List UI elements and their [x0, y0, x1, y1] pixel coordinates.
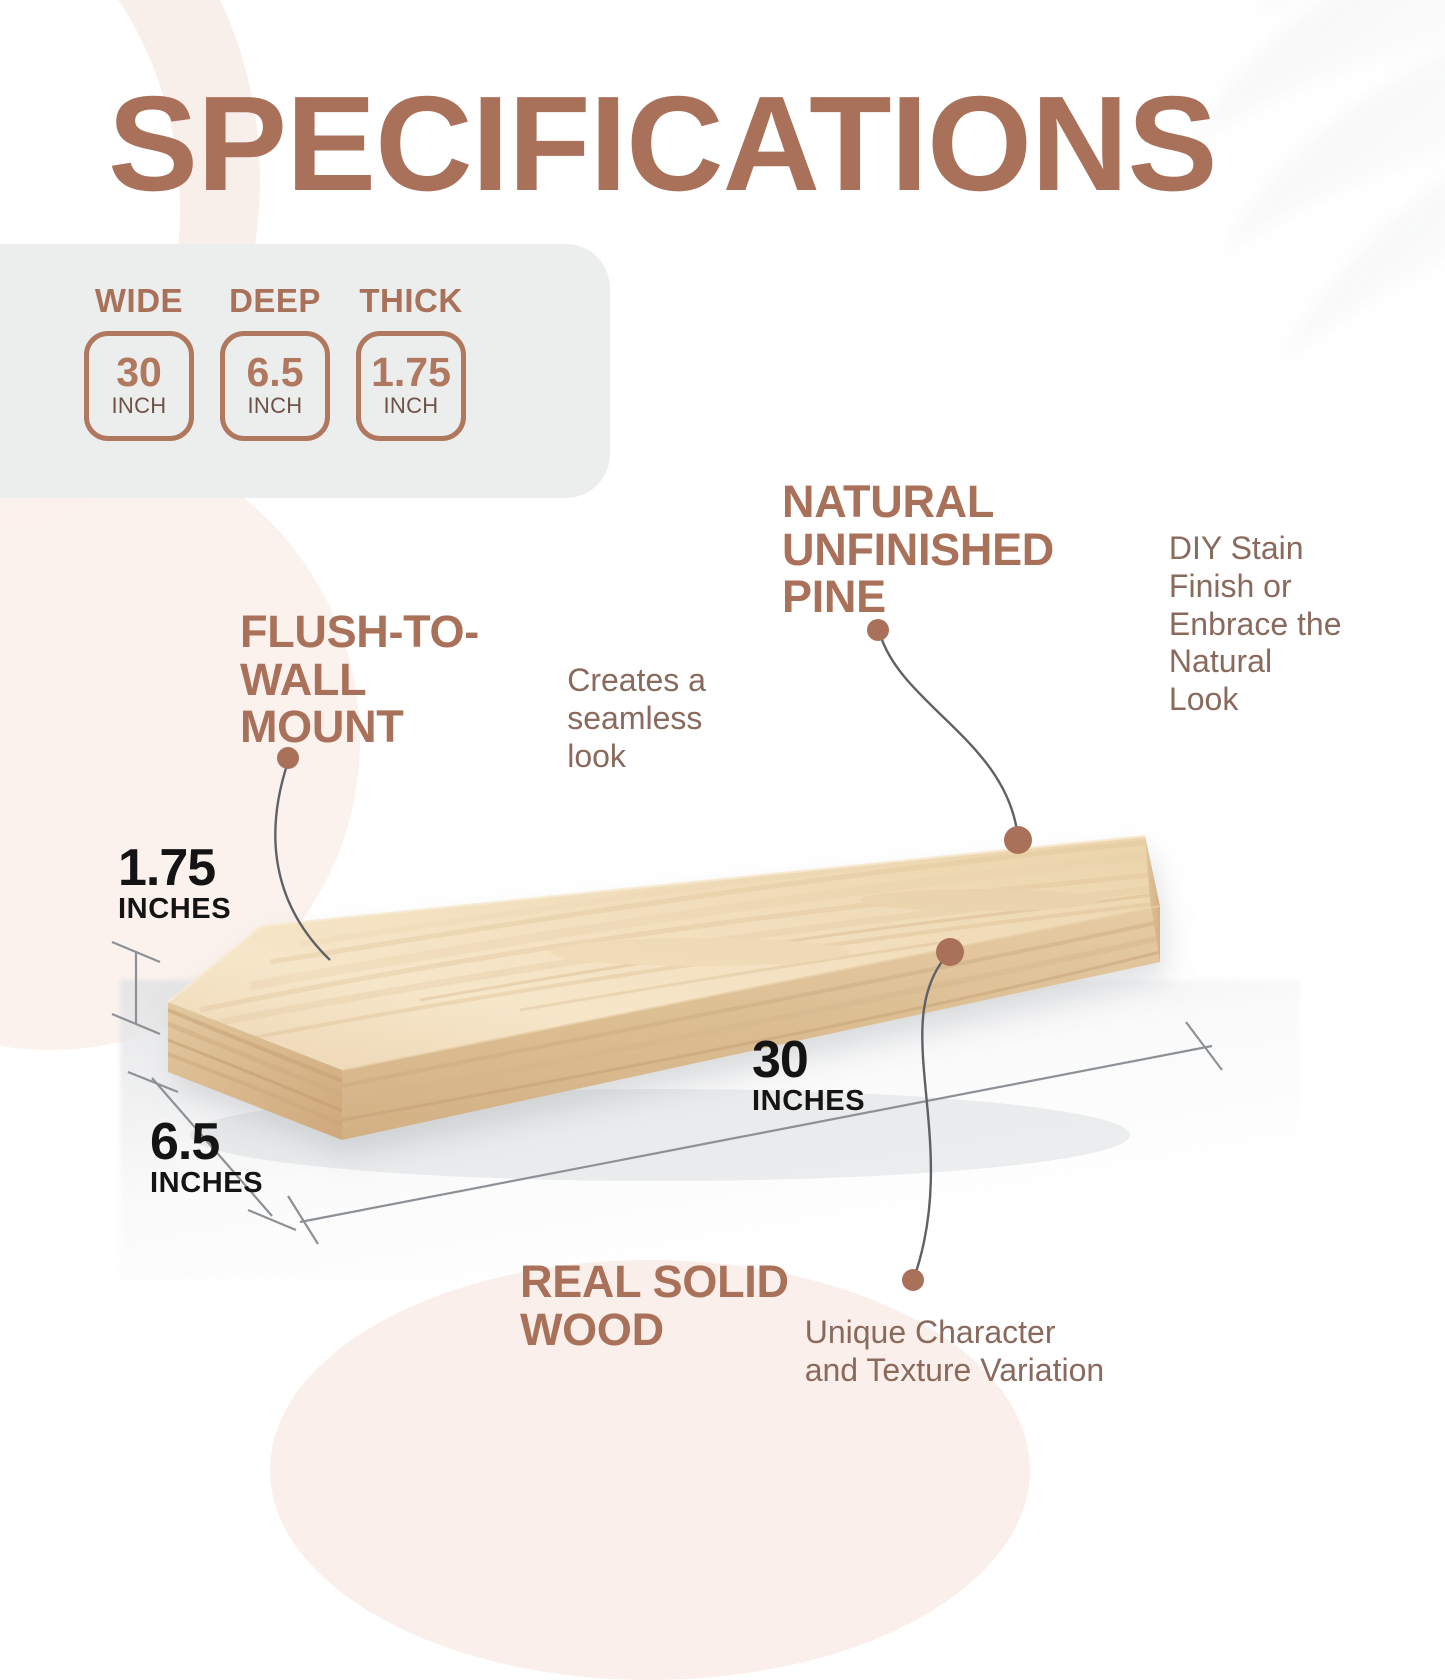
- callout-heading-wood: REAL SOLID WOOD: [520, 1258, 789, 1353]
- callout-heading-pine: NATURAL UNFINISHED PINE: [782, 478, 1153, 621]
- spec-label-deep: DEEP: [229, 282, 321, 320]
- leader-dot-pine-target: [1004, 826, 1032, 854]
- spec-label-wide: WIDE: [95, 282, 183, 320]
- dimension-value-depth: 6.5: [150, 1118, 263, 1167]
- dimension-label-thickness: 1.75 INCHES: [118, 844, 231, 926]
- dimension-unit-thickness: INCHES: [118, 893, 231, 926]
- dimension-unit-depth: INCHES: [150, 1167, 263, 1200]
- callout-heading-mount: FLUSH-TO-WALL MOUNT: [240, 608, 551, 751]
- spec-unit-deep: INCH: [248, 393, 303, 419]
- spec-unit-thick: INCH: [384, 393, 439, 419]
- spec-box-wide: 30 INCH: [84, 331, 194, 441]
- spec-item-deep: DEEP 6.5 INCH: [220, 282, 330, 441]
- spec-unit-wide: INCH: [112, 393, 167, 419]
- page-title: SPECIFICATIONS: [108, 76, 1217, 211]
- spec-value-wide: 30: [116, 353, 162, 392]
- spec-item-thick: THICK 1.75 INCH: [356, 282, 466, 441]
- spec-box-thick: 1.75 INCH: [356, 331, 466, 441]
- specification-panel: WIDE 30 INCH DEEP 6.5 INCH THICK 1.75 IN…: [0, 244, 610, 498]
- callout-subtext-mount: Creates a seamless look: [567, 608, 740, 775]
- callout-real-solid-wood: REAL SOLID WOOD Unique Character and Tex…: [520, 1258, 1160, 1390]
- callout-natural-unfinished-pine: NATURAL UNFINISHED PINE DIY Stain Finish…: [782, 478, 1382, 719]
- spec-label-thick: THICK: [359, 282, 462, 320]
- floor-shadow: [120, 980, 1300, 1280]
- callout-subtext-wood: Unique Character and Texture Variation: [805, 1258, 1104, 1390]
- spec-box-deep: 6.5 INCH: [220, 331, 330, 441]
- dimension-label-length: 30 INCHES: [752, 1036, 865, 1118]
- dimension-value-thickness: 1.75: [118, 844, 231, 893]
- palm-leaf-shadow-icon: [945, 0, 1445, 440]
- dimension-unit-length: INCHES: [752, 1085, 865, 1118]
- callout-flush-to-wall-mount: FLUSH-TO-WALL MOUNT Creates a seamless l…: [240, 608, 740, 775]
- infographic-canvas: SPECIFICATIONS WIDE 30 INCH DEEP 6.5 INC…: [0, 0, 1445, 1445]
- spec-value-thick: 1.75: [371, 353, 451, 392]
- callout-subtext-pine: DIY Stain Finish or Enbrace the Natural …: [1169, 478, 1382, 719]
- dimension-value-length: 30: [752, 1036, 865, 1085]
- leader-dot-wood-target: [936, 938, 964, 966]
- dimension-label-depth: 6.5 INCHES: [150, 1118, 263, 1200]
- spec-item-wide: WIDE 30 INCH: [84, 282, 194, 441]
- spec-value-deep: 6.5: [247, 353, 304, 392]
